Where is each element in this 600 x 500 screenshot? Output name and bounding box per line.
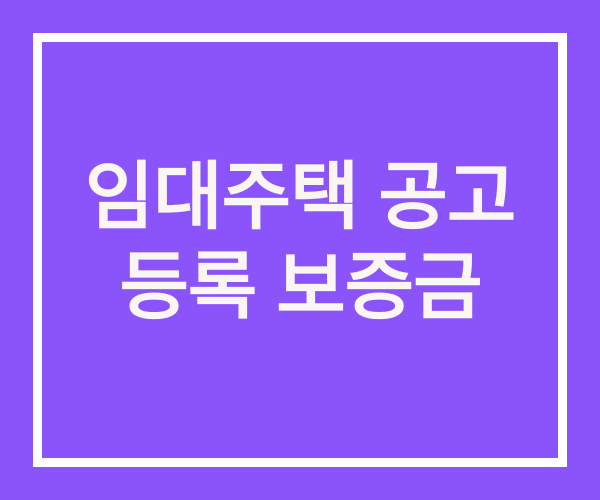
headline-line-1: 임대주택 공고 bbox=[85, 152, 515, 242]
headline-block: 임대주택 공고 등록 보증금 bbox=[0, 152, 600, 332]
poster-canvas: 임대주택 공고 등록 보증금 bbox=[0, 0, 600, 500]
headline-line-2: 등록 보증금 bbox=[119, 242, 481, 332]
